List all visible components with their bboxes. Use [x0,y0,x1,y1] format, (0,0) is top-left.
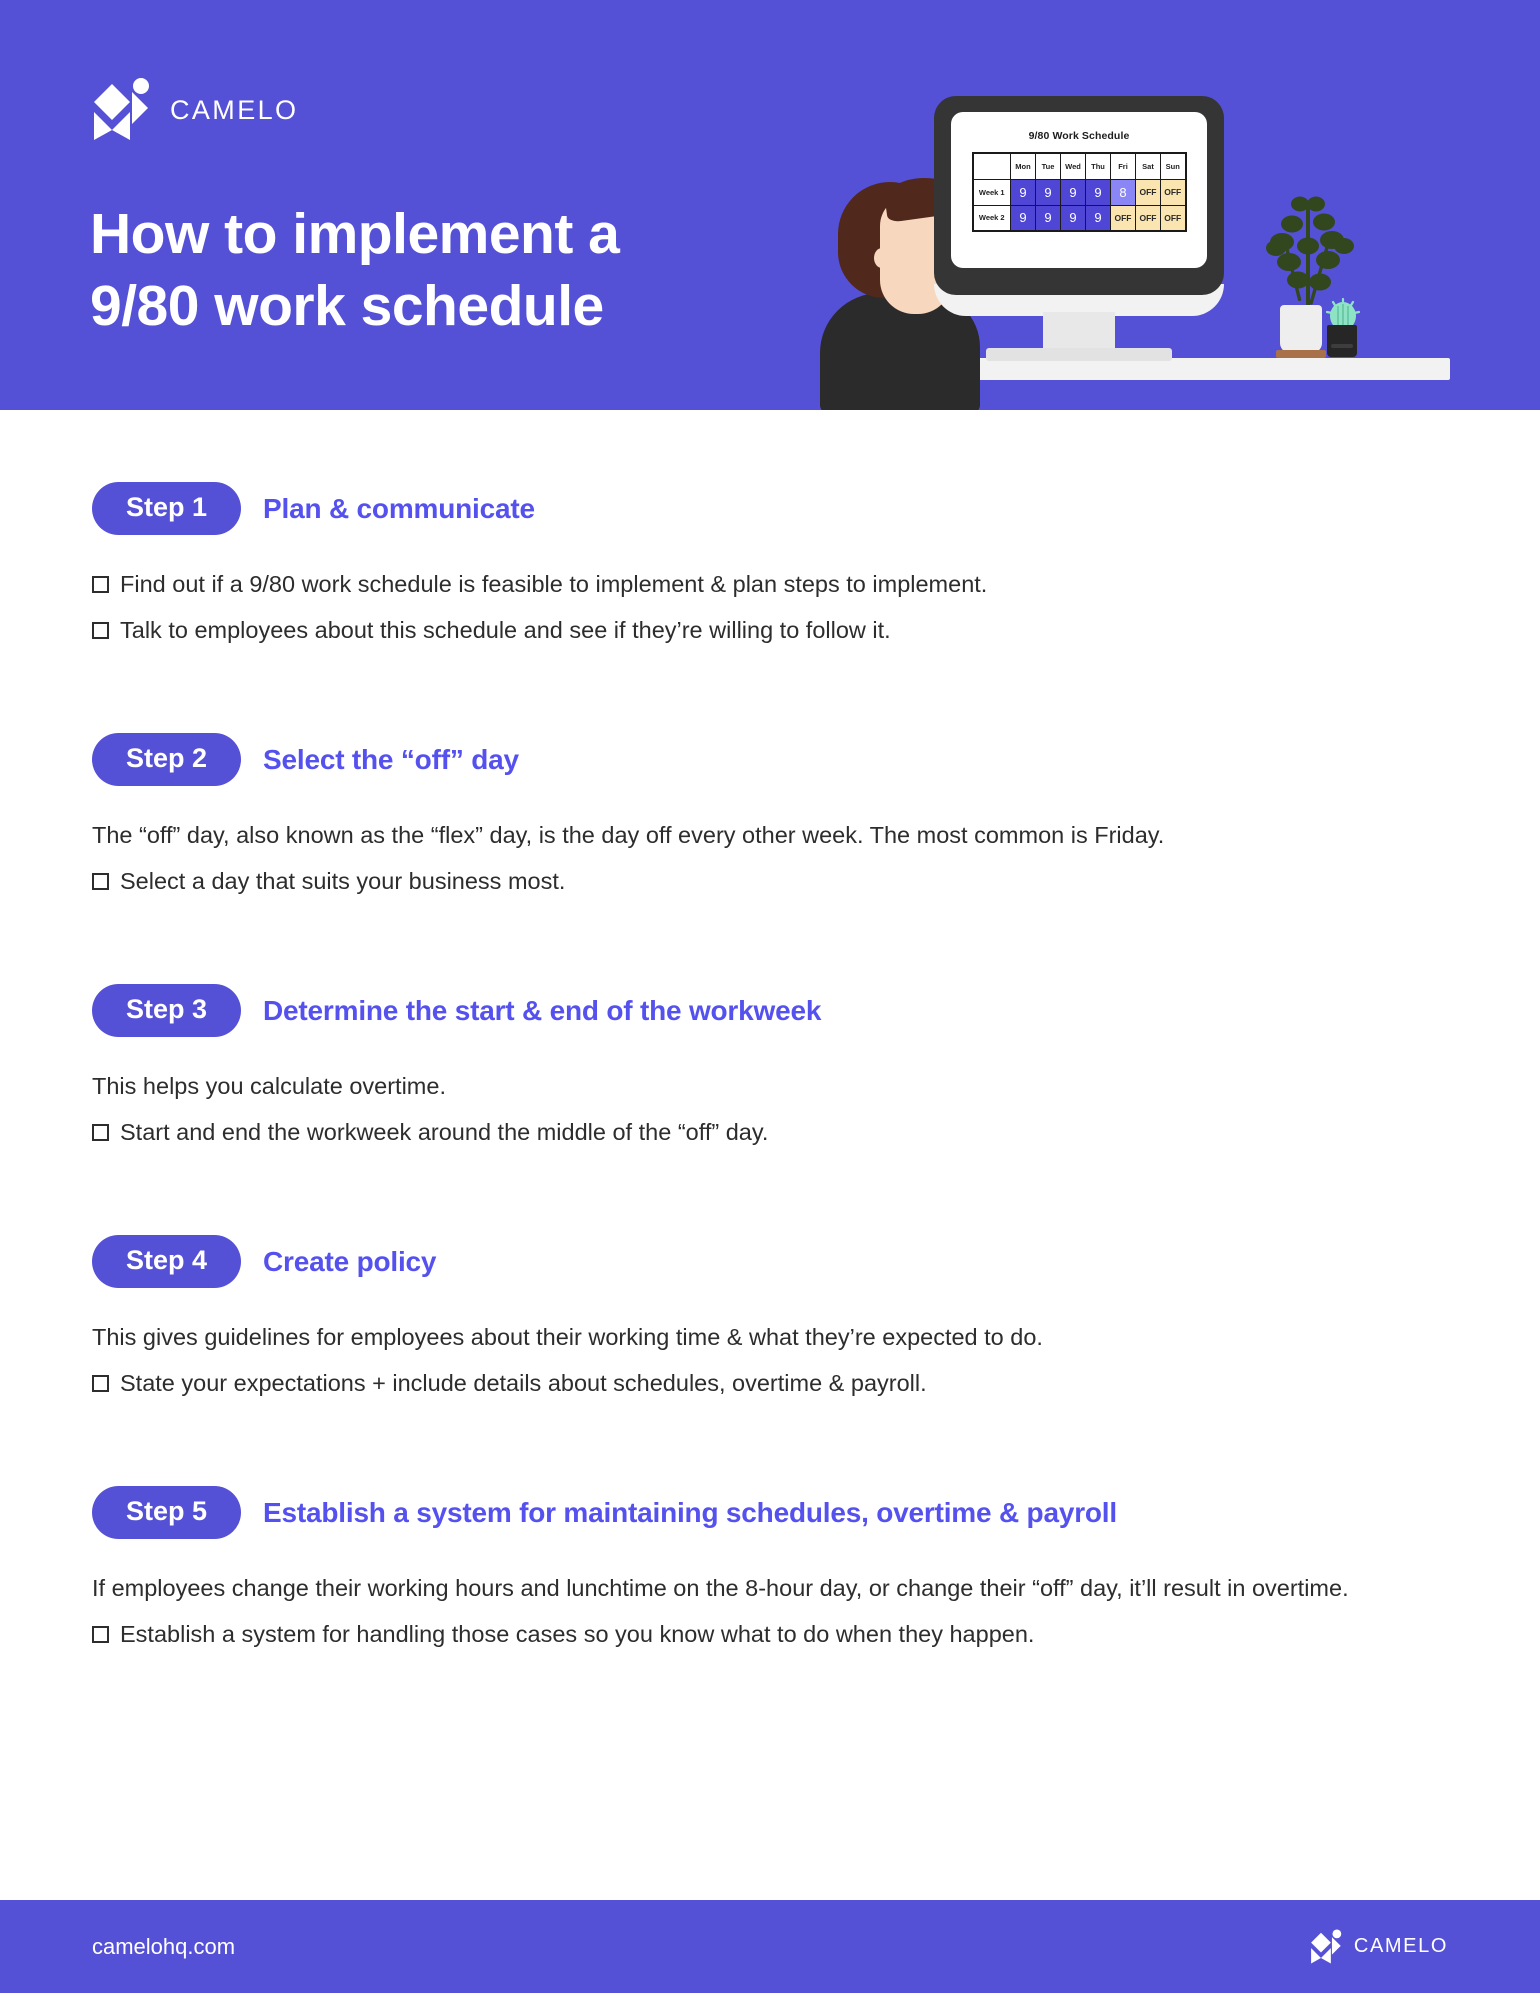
checkbox-icon[interactable] [92,1375,109,1392]
page-title-line-2: 9/80 work schedule [90,270,619,342]
schedule-cell: 9 [1011,179,1036,205]
schedule-cell: OFF [1161,205,1186,231]
schedule-corner-cell [973,153,1011,179]
step-body-4: This gives guidelines for employees abou… [92,1314,1437,1406]
cactus-pot [1327,325,1357,357]
checklist-item-label: Talk to employees about this schedule an… [120,607,891,653]
step-block-3: Step 3 Determine the start & end of the … [92,984,1448,1155]
step-body-5: If employees change their working hours … [92,1565,1437,1657]
schedule-row-week2: Week 2 9 9 9 9 OFF OFF OFF [973,205,1186,231]
plant-pot-saucer [1276,350,1326,358]
step-title-1: Plan & communicate [263,493,535,525]
step-block-4: Step 4 Create policy This gives guidelin… [92,1235,1448,1406]
checklist-item-label: Establish a system for handling those ca… [120,1611,1034,1657]
schedule-col-wed: Wed [1061,153,1086,179]
step-badge-5: Step 5 [92,1486,241,1539]
step-badge-2: Step 2 [92,733,241,786]
person-ear [874,248,890,268]
checkbox-icon[interactable] [92,576,109,593]
camelo-logo-icon [1310,1929,1344,1965]
step-header: Step 3 Determine the start & end of the … [92,984,1448,1037]
schedule-col-tue: Tue [1036,153,1061,179]
schedule-cell: 9 [1036,205,1061,231]
schedule-col-fri: Fri [1111,153,1136,179]
checklist-item[interactable]: Start and end the workweek around the mi… [92,1109,1437,1155]
schedule-cell: 9 [1086,205,1111,231]
step-block-5: Step 5 Establish a system for maintainin… [92,1486,1448,1657]
schedule-cell: OFF [1136,205,1161,231]
schedule-row-label: Week 1 [973,179,1011,205]
cactus-pot-stripe [1331,344,1353,348]
schedule-cell: OFF [1161,179,1186,205]
schedule-header-row: Mon Tue Wed Thu Fri Sat Sun [973,153,1186,179]
step-block-1: Step 1 Plan & communicate Find out if a … [92,482,1448,653]
step-header: Step 5 Establish a system for maintainin… [92,1486,1448,1539]
steps-list: Step 1 Plan & communicate Find out if a … [0,410,1540,1657]
schedule-row-week1: Week 1 9 9 9 9 8 OFF OFF [973,179,1186,205]
step-header: Step 1 Plan & communicate [92,482,1448,535]
schedule-col-thu: Thu [1086,153,1111,179]
checklist-item[interactable]: Find out if a 9/80 work schedule is feas… [92,561,1437,607]
monitor-stand-neck [1043,312,1115,352]
checklist-item[interactable]: Establish a system for handling those ca… [92,1611,1437,1657]
step-block-2: Step 2 Select the “off” day The “off” da… [92,733,1448,904]
brand-logo: CAMELO [92,78,298,142]
schedule-cell: OFF [1136,179,1161,205]
schedule-col-mon: Mon [1011,153,1036,179]
step-body-1: Find out if a 9/80 work schedule is feas… [92,561,1437,653]
step-body-2: The “off” day, also known as the “flex” … [92,812,1437,904]
checkbox-icon[interactable] [92,1626,109,1643]
header-banner: 9/80 Work Schedule Mon Tue Wed Thu Fri S… [0,0,1540,410]
schedule-cell: 9 [1086,179,1111,205]
step-paragraph: This helps you calculate overtime. [92,1063,1437,1109]
footer-bar: camelohq.com CAMELO [0,1900,1540,1993]
plant-pot [1280,305,1322,353]
checkbox-icon[interactable] [92,1124,109,1141]
checklist-item-label: Find out if a 9/80 work schedule is feas… [120,561,987,607]
brand-name: CAMELO [170,95,298,126]
schedule-cell: 9 [1061,205,1086,231]
checklist-item-label: Start and end the workweek around the mi… [120,1109,768,1155]
step-title-2: Select the “off” day [263,744,519,776]
schedule-cell: 9 [1011,205,1036,231]
step-header: Step 2 Select the “off” day [92,733,1448,786]
checkbox-icon[interactable] [92,622,109,639]
schedule-col-sun: Sun [1161,153,1186,179]
step-badge-1: Step 1 [92,482,241,535]
step-badge-3: Step 3 [92,984,241,1037]
step-title-5: Establish a system for maintaining sched… [263,1497,1117,1529]
schedule-cell: 9 [1061,179,1086,205]
step-badge-4: Step 4 [92,1235,241,1288]
checklist-item-label: State your expectations + include detail… [120,1360,927,1406]
page-title-line-1: How to implement a [90,198,619,270]
schedule-title: 9/80 Work Schedule [951,130,1207,142]
camelo-logo-icon [92,78,154,142]
checklist-item[interactable]: State your expectations + include detail… [92,1360,1437,1406]
page-title: How to implement a 9/80 work schedule [90,198,619,342]
checklist-item-label: Select a day that suits your business mo… [120,858,565,904]
infographic-page: 9/80 Work Schedule Mon Tue Wed Thu Fri S… [0,0,1540,1993]
checkbox-icon[interactable] [92,873,109,890]
checklist-item[interactable]: Talk to employees about this schedule an… [92,607,1437,653]
footer-brand-logo: CAMELO [1310,1929,1448,1965]
step-paragraph: The “off” day, also known as the “flex” … [92,812,1437,858]
monitor-stand-foot [986,348,1172,361]
step-title-3: Determine the start & end of the workwee… [263,995,821,1027]
step-title-4: Create policy [263,1246,436,1278]
schedule-row-label: Week 2 [973,205,1011,231]
step-paragraph: This gives guidelines for employees abou… [92,1314,1437,1360]
schedule-table: Mon Tue Wed Thu Fri Sat Sun Week 1 9 9 9… [972,152,1187,232]
footer-brand-name: CAMELO [1354,1935,1448,1958]
schedule-cell: 8 [1111,179,1136,205]
monitor-screen: 9/80 Work Schedule Mon Tue Wed Thu Fri S… [951,112,1207,268]
schedule-cell: OFF [1111,205,1136,231]
step-paragraph: If employees change their working hours … [92,1565,1437,1611]
checklist-item[interactable]: Select a day that suits your business mo… [92,858,1437,904]
schedule-cell: 9 [1036,179,1061,205]
step-body-3: This helps you calculate overtime. Start… [92,1063,1437,1155]
step-header: Step 4 Create policy [92,1235,1448,1288]
footer-website-link[interactable]: camelohq.com [92,1934,235,1960]
schedule-col-sat: Sat [1136,153,1161,179]
